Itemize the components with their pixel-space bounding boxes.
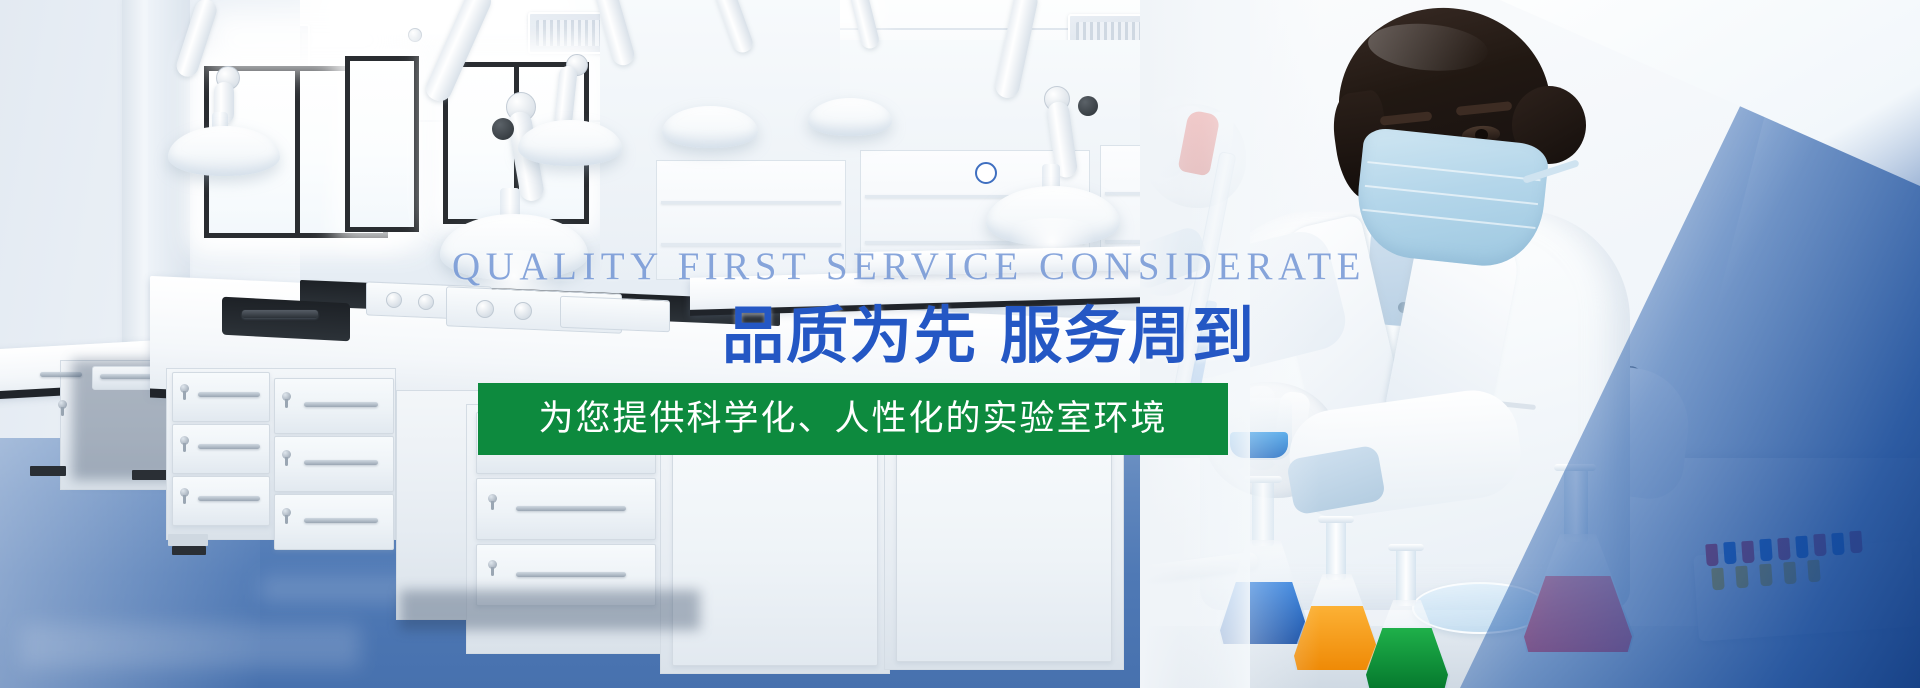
green-subtitle-text: 为您提供科学化、人性化的实验室环境 bbox=[538, 400, 1167, 438]
headline-part-2: 服务周到 bbox=[1000, 299, 1256, 372]
hero-banner: QUALITY FIRST SERVICE CONSIDERATE 品质为先服务… bbox=[0, 0, 1920, 688]
headline: 品质为先服务周到 bbox=[722, 300, 1256, 372]
green-subtitle-bar: 为您提供科学化、人性化的实验室环境 bbox=[478, 383, 1228, 455]
text-overlay: QUALITY FIRST SERVICE CONSIDERATE 品质为先服务… bbox=[0, 0, 1920, 688]
english-tagline: QUALITY FIRST SERVICE CONSIDERATE bbox=[452, 246, 1366, 288]
headline-part-1: 品质为先 bbox=[722, 299, 978, 372]
